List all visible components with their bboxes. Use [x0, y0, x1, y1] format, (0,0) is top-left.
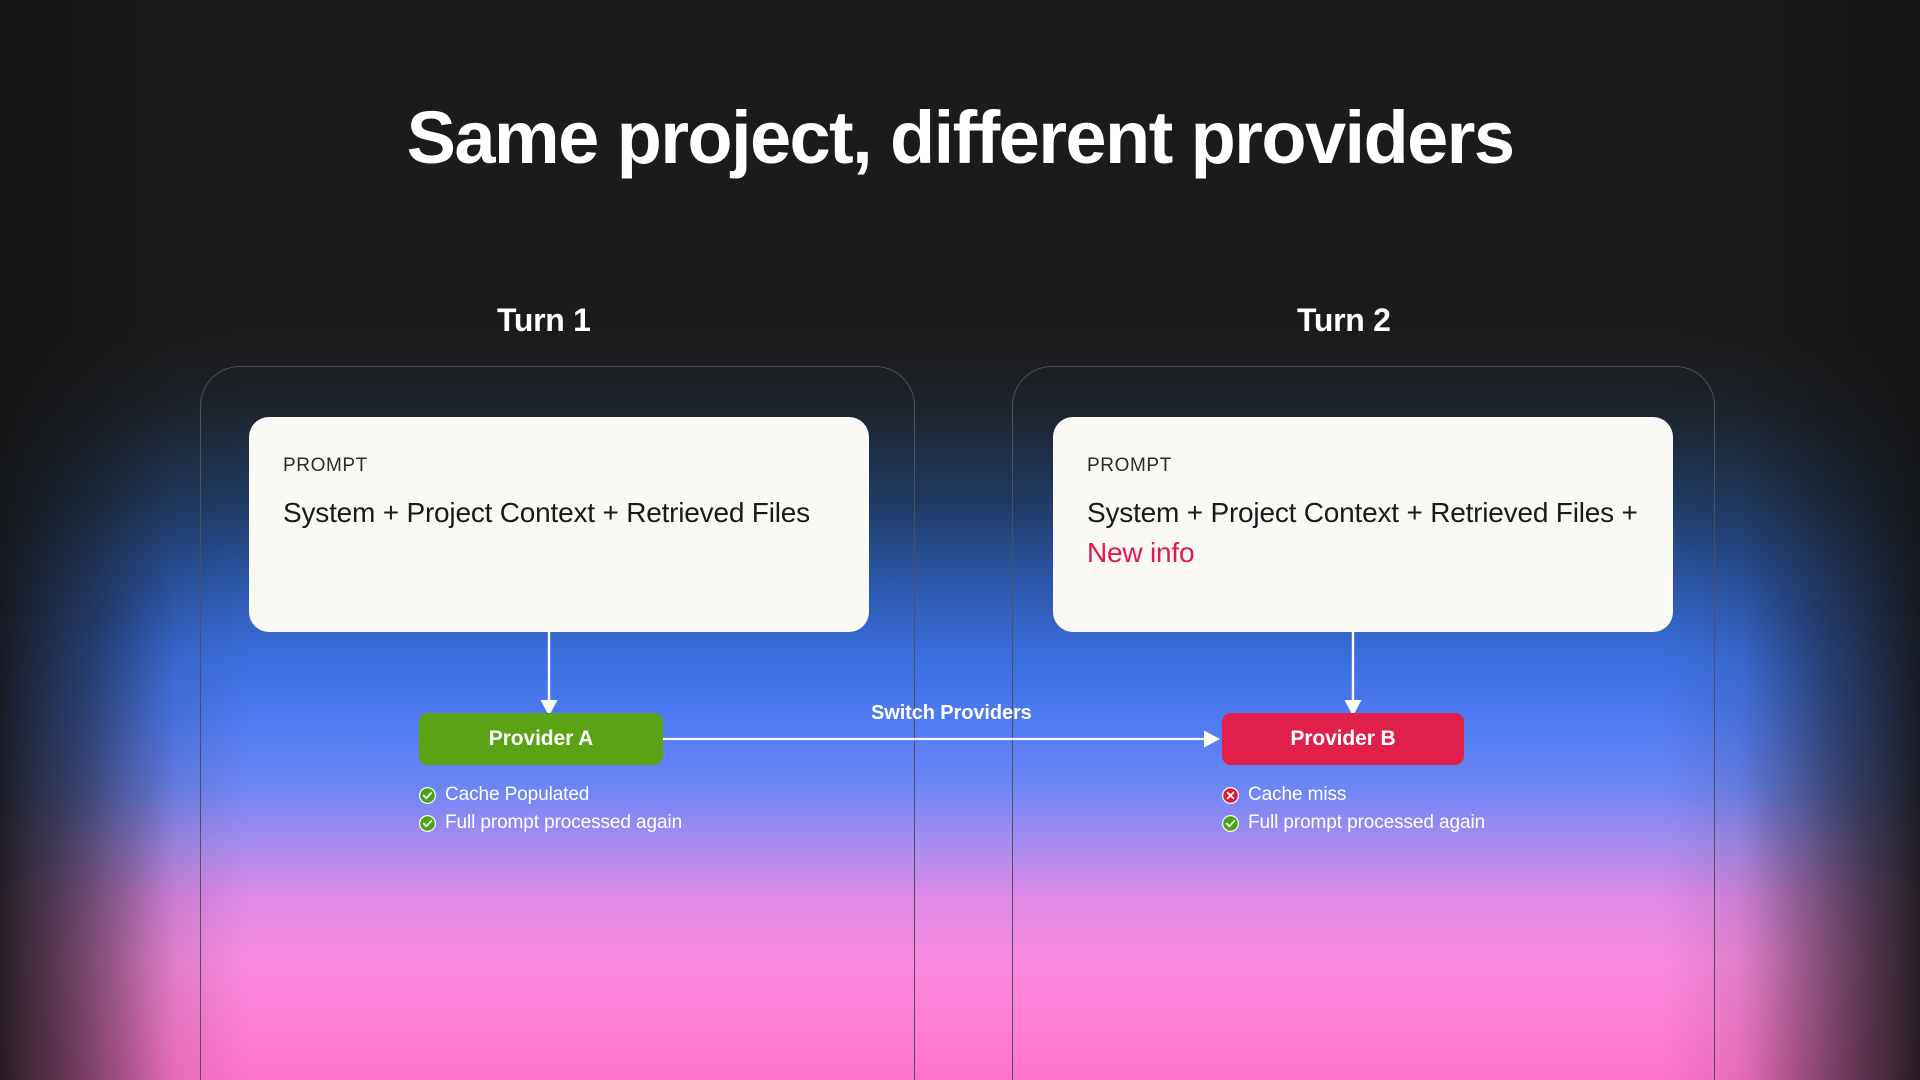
list-item-label: Cache Populated — [445, 784, 589, 806]
provider-b-button[interactable]: Provider B — [1222, 713, 1464, 765]
turn-2-checklist: Cache miss Full prompt processed again — [1222, 784, 1485, 834]
prompt-text-new-info: New info — [1087, 537, 1194, 568]
turn-2-flow-arrow-down — [1340, 632, 1366, 718]
prompt-text-base: System + Project Context + Retrieved Fil… — [1087, 497, 1638, 528]
switch-providers-label: Switch Providers — [871, 702, 1032, 725]
prompt-label: PROMPT — [283, 455, 835, 477]
check-circle-icon — [419, 815, 436, 832]
list-item-label: Full prompt processed again — [445, 812, 682, 834]
list-item-label: Full prompt processed again — [1248, 812, 1485, 834]
page-title: Same project, different providers — [0, 95, 1920, 180]
check-circle-icon — [419, 787, 436, 804]
provider-a-button[interactable]: Provider A — [419, 713, 663, 765]
prompt-text: System + Project Context + Retrieved Fil… — [283, 493, 835, 533]
list-item: Cache miss — [1222, 784, 1485, 806]
turn-1-checklist: Cache Populated Full prompt processed ag… — [419, 784, 682, 834]
prompt-label: PROMPT — [1087, 455, 1639, 477]
list-item-label: Cache miss — [1248, 784, 1346, 806]
switch-providers-arrow — [663, 727, 1222, 751]
x-circle-icon — [1222, 787, 1239, 804]
turn-2-heading: Turn 2 — [1297, 302, 1391, 339]
turn-1-prompt-card: PROMPT System + Project Context + Retrie… — [249, 417, 869, 632]
list-item: Full prompt processed again — [1222, 812, 1485, 834]
turn-2-prompt-card: PROMPT System + Project Context + Retrie… — [1053, 417, 1673, 632]
list-item: Cache Populated — [419, 784, 682, 806]
prompt-text: System + Project Context + Retrieved Fil… — [1087, 493, 1639, 573]
list-item: Full prompt processed again — [419, 812, 682, 834]
check-circle-icon — [1222, 815, 1239, 832]
turn-1-heading: Turn 1 — [497, 302, 591, 339]
turn-1-flow-arrow-down — [536, 632, 562, 718]
diagram-canvas: Same project, different providers Turn 1… — [0, 0, 1920, 1080]
prompt-text-base: System + Project Context + Retrieved Fil… — [283, 497, 810, 528]
